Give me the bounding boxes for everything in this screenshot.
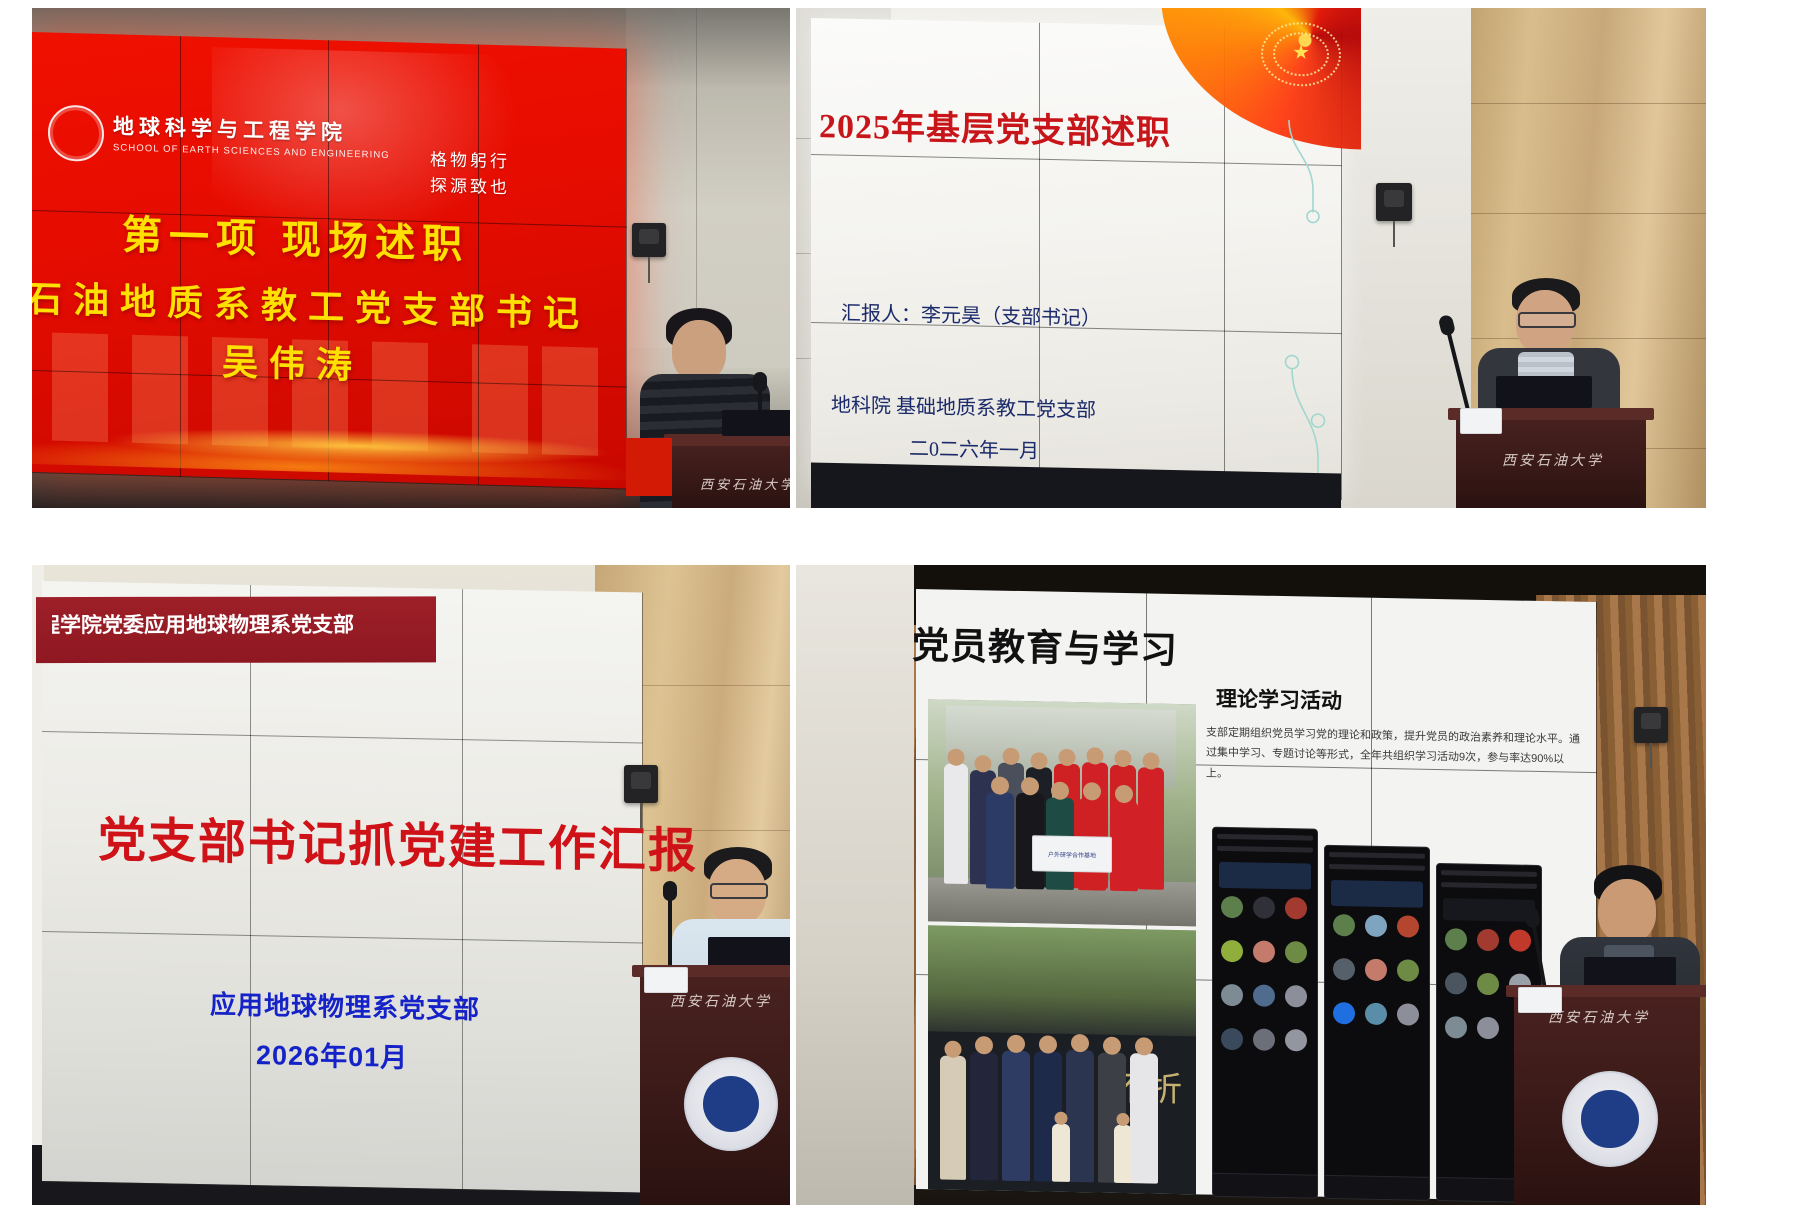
- photo-grid: 地球科学与工程学院 SCHOOL OF EARTH SCIENCES AND E…: [0, 0, 1800, 1222]
- wall-tile: [478, 44, 627, 227]
- podium-inscription: 西安石油大学: [1548, 1007, 1650, 1027]
- notice-banner: [1443, 898, 1535, 922]
- slide-unit: 地科院 基础地质系教工党支部: [831, 388, 1096, 423]
- podium-inscription: 西安石油大学: [700, 474, 790, 493]
- photo-bottom-left: 工程学院党委应用地球物理系党支部 党支部书记抓党建工作汇报 应用地球物理系党支部…: [32, 565, 790, 1205]
- red-reflection: [626, 438, 672, 496]
- panel-bottom-right[interactable]: 党员教育与学习 理论学习活动 支部定期组织党员学习党的理论和政策，提升党员的政治…: [790, 521, 1800, 1222]
- head: [672, 320, 726, 382]
- podium: 西安石油大学: [672, 434, 790, 508]
- university-emblem: [684, 1057, 778, 1151]
- glasses-icon: [1518, 312, 1576, 328]
- notice-banner: [1331, 880, 1423, 908]
- nameplate: [644, 967, 688, 993]
- speaker-grille-icon: [1641, 713, 1660, 729]
- nameplate: [1460, 408, 1502, 434]
- photo-sign: 户外研学合作基地: [1032, 835, 1112, 873]
- school-logo: 地球科学与工程学院 SCHOOL OF EARTH SCIENCES AND E…: [48, 104, 390, 170]
- wall-panel: [626, 8, 697, 178]
- person: [1066, 1050, 1094, 1183]
- slide-date: 二0二六年一月: [909, 432, 1039, 464]
- child: [1052, 1124, 1070, 1182]
- speaker-grille-icon: [631, 772, 650, 789]
- led-video-wall: 地球科学与工程学院 SCHOOL OF EARTH SCIENCES AND E…: [32, 32, 626, 489]
- header-banner-text: 工程学院党委应用地球物理系党支部: [52, 609, 354, 640]
- wall-speaker-icon: [1376, 183, 1412, 221]
- slide-presenter: 吴伟涛: [222, 333, 363, 389]
- nameplate: [1518, 987, 1562, 1013]
- slide-header-title: 党员教育与学习: [912, 615, 1178, 674]
- podium-inscription: 西安石油大学: [1502, 450, 1604, 470]
- laptop: [722, 410, 790, 436]
- school-name-cn: 地球科学与工程学院: [113, 116, 390, 147]
- person: [986, 792, 1014, 889]
- speaker-grille-icon: [1384, 190, 1404, 207]
- notice-banner: [1219, 862, 1311, 890]
- motto-line-1: 格物躬行: [430, 147, 510, 175]
- projection-video-wall: 党员教育与学习 理论学习活动 支部定期组织党员学习党的理论和政策，提升党员的政治…: [916, 589, 1596, 1202]
- podium: 西安石油大学: [1514, 985, 1700, 1205]
- panel-top-left[interactable]: 地球科学与工程学院 SCHOOL OF EARTH SCIENCES AND E…: [0, 0, 790, 521]
- projection-video-wall: 工程学院党委应用地球物理系党支部 党支部书记抓党建工作汇报 应用地球物理系党支部…: [42, 581, 642, 1193]
- wall-speaker-icon: [1634, 707, 1668, 743]
- wall-speaker-icon: [632, 223, 666, 257]
- slide-date: 2026年01月: [256, 1033, 408, 1075]
- motto-line-2: 探源致也: [430, 173, 510, 201]
- photo-top-right: 2025年基层党支部述职 汇报人：李元昊（支部书记） 地科院 基础地质系教工党支…: [796, 8, 1706, 508]
- emblem-inner: [703, 1076, 759, 1132]
- circuit-decoration: [1281, 120, 1341, 231]
- group-photo-2: 不折: [928, 925, 1196, 1194]
- wall-panel: [696, 8, 790, 248]
- slide-reporter: 汇报人：李元昊（支部书记）: [841, 297, 1101, 331]
- photo-sign-text: 户外研学合作基地: [1048, 849, 1096, 859]
- podium-inscription: 西安石油大学: [670, 991, 772, 1011]
- school-motto: 格物躬行 探源致也: [430, 147, 510, 200]
- glasses-icon: [710, 883, 768, 899]
- person: [1110, 801, 1138, 892]
- photo-top-left: 地球科学与工程学院 SCHOOL OF EARTH SCIENCES AND E…: [32, 8, 790, 508]
- header-banner-text-wrap: 工程学院党委应用地球物理系党支部: [52, 607, 432, 648]
- slide-body-text: 支部定期组织党员学习党的理论和政策，提升党员的政治素养和理论水平。通过集中学习、…: [1206, 723, 1586, 791]
- wall-tile: [42, 931, 251, 1186]
- slide-section-title: 理论学习活动: [1216, 683, 1342, 715]
- left-wall: [796, 565, 914, 1205]
- school-seal-icon: [48, 104, 104, 162]
- phone-screenshot-2: [1324, 845, 1430, 1201]
- laptop: [1496, 376, 1592, 408]
- projection-video-wall: 2025年基层党支部述职 汇报人：李元昊（支部书记） 地科院 基础地质系教工党支…: [811, 18, 1341, 499]
- person: [1002, 1051, 1030, 1182]
- panel-bottom-left[interactable]: 工程学院党委应用地球物理系党支部 党支部书记抓党建工作汇报 应用地球物理系党支部…: [0, 521, 790, 1222]
- photo-bottom-right: 党员教育与学习 理论学习活动 支部定期组织党员学习党的理论和政策，提升党员的政治…: [796, 565, 1706, 1205]
- child: [1114, 1125, 1132, 1183]
- person: [1138, 767, 1164, 889]
- head: [1598, 879, 1656, 943]
- phone-screenshot-1: [1212, 827, 1318, 1199]
- university-emblem: [1562, 1071, 1658, 1167]
- screen-ribbon-graphic: [32, 374, 626, 481]
- slide-title: 党支部书记抓党建工作汇报: [98, 800, 698, 882]
- slide-title: 2025年基层党支部述职: [819, 98, 1171, 154]
- wall-tile: [462, 589, 643, 743]
- emblem-inner: [1581, 1090, 1638, 1147]
- slide-unit: 应用地球物理系党支部: [210, 984, 480, 1026]
- wall-tile: [462, 939, 643, 1193]
- podium: 西安石油大学: [640, 965, 790, 1205]
- person: [944, 764, 968, 884]
- panel-top-right[interactable]: 2025年基层党支部述职 汇报人：李元昊（支部书记） 地科院 基础地质系教工党支…: [790, 0, 1800, 521]
- speaker-grille-icon: [639, 229, 658, 244]
- group-photo-1: 户外研学合作基地: [928, 699, 1196, 926]
- person: [1130, 1053, 1158, 1184]
- wall-speaker-icon: [624, 765, 658, 803]
- person: [940, 1055, 966, 1179]
- person: [970, 1052, 998, 1181]
- slide-title: 第一项 现场述职: [122, 203, 469, 271]
